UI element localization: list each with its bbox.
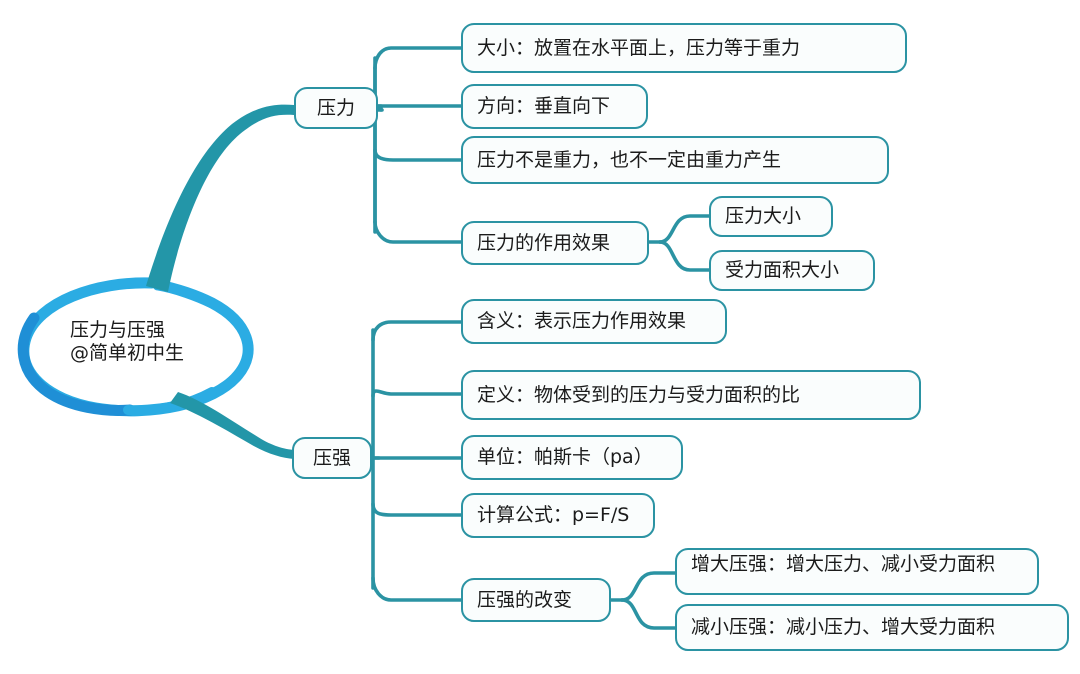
branch-node-yali-label: 压力 [317, 97, 355, 119]
leaf-node-bushi-label: 压力不是重力，也不一定由重力产生 [477, 149, 781, 171]
leaf-node-danwei-label: 单位：帕斯卡（pa） [477, 446, 653, 468]
branch-node-yaqiang[interactable]: 压强 [292, 437, 372, 479]
leaf-node-zengda[interactable]: 增大压强：增大压力、减小受力面积 [675, 548, 1039, 595]
leaf-node-dingyi-label: 定义：物体受到的压力与受力面积的比 [477, 384, 800, 406]
leaf-node-fangxiang-label: 方向：垂直向下 [477, 95, 610, 117]
leaf-node-jianxiao-label: 减小压强：减小压力、增大受力面积 [691, 616, 995, 638]
node-yaqiang-gaibian-label: 压强的改变 [477, 589, 572, 611]
leaf-node-fangxiang[interactable]: 方向：垂直向下 [461, 84, 648, 129]
main-branch-yali [146, 105, 294, 292]
branch-node-yali[interactable]: 压力 [294, 87, 378, 129]
leaf-node-hanyi-label: 含义：表示压力作用效果 [477, 310, 686, 332]
node-yali-zuoyongxiaoguo-label: 压力的作用效果 [477, 232, 610, 254]
bracket-gaibian-children [610, 573, 676, 628]
leaf-node-bushi[interactable]: 压力不是重力，也不一定由重力产生 [461, 136, 889, 184]
bracket-xiaoguo-children [648, 216, 710, 270]
leaf-node-jianxiao[interactable]: 减小压强：减小压力、增大受力面积 [675, 604, 1069, 651]
leaf-node-shoulimianji[interactable]: 受力面积大小 [709, 250, 875, 291]
root-node[interactable]: 压力与压强 @简单初中生 [70, 312, 250, 372]
root-title-line1: 压力与压强 [70, 319, 165, 342]
leaf-node-shoulimianji-label: 受力面积大小 [725, 259, 839, 281]
leaf-node-gongshi[interactable]: 计算公式：p=F/S [461, 493, 655, 538]
leaf-node-daxiao[interactable]: 大小：放置在水平面上，压力等于重力 [461, 23, 907, 73]
bracket-yaqiang-children [369, 322, 462, 600]
leaf-node-daxiao-label: 大小：放置在水平面上，压力等于重力 [477, 37, 800, 59]
node-yaqiang-gaibian[interactable]: 压强的改变 [461, 578, 611, 622]
leaf-node-hanyi[interactable]: 含义：表示压力作用效果 [461, 299, 727, 344]
leaf-node-danwei[interactable]: 单位：帕斯卡（pa） [461, 435, 683, 480]
bracket-yali-children [375, 48, 462, 242]
root-title-line2: @简单初中生 [70, 342, 184, 365]
leaf-node-yalidaxiao[interactable]: 压力大小 [709, 196, 833, 237]
leaf-node-gongshi-label: 计算公式：p=F/S [477, 504, 629, 526]
leaf-node-dingyi[interactable]: 定义：物体受到的压力与受力面积的比 [461, 370, 921, 420]
branch-node-yaqiang-label: 压强 [313, 447, 351, 469]
leaf-node-yalidaxiao-label: 压力大小 [725, 205, 801, 227]
leaf-node-zengda-label: 增大压强：增大压力、减小受力面积 [691, 553, 995, 575]
mindmap-canvas: 压力与压强 @简单初中生 压力 大小：放置在水平面上，压力等于重力 方向：垂直向… [0, 0, 1080, 674]
node-yali-zuoyongxiaoguo[interactable]: 压力的作用效果 [461, 221, 649, 265]
main-branch-yaqiang [170, 392, 294, 459]
